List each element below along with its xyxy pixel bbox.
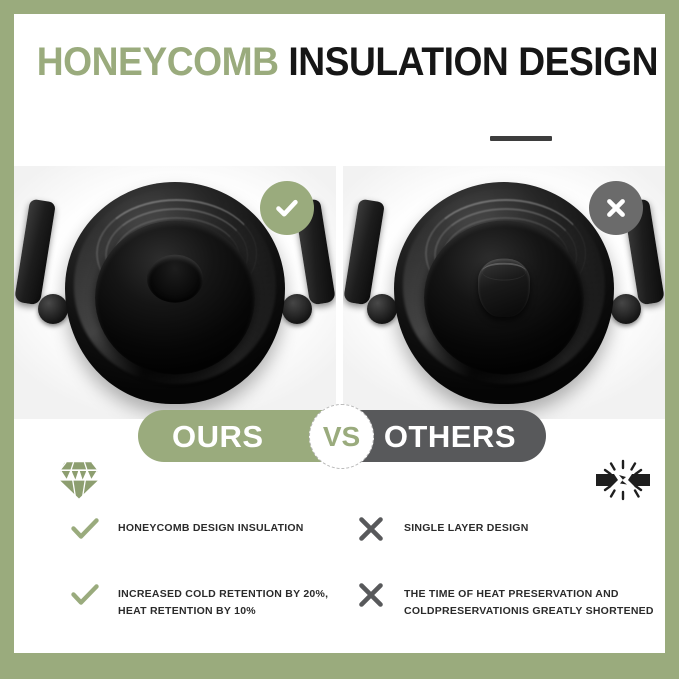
- check-icon: [68, 512, 102, 546]
- x-icon: [354, 578, 388, 612]
- feature-text: INCREASED COLD RETENTION BY 20%, HEAT RE…: [118, 578, 328, 620]
- pot-body-ours: [65, 182, 285, 404]
- feature-text: THE TIME OF HEAT PRESERVATION AND COLDPR…: [404, 578, 654, 620]
- lid-protruding-knob: [478, 259, 530, 317]
- x-circle-icon: [589, 181, 643, 235]
- pot-handle-hinge-right: [282, 294, 312, 324]
- feature-line: HEAT RETENTION BY 10%: [118, 603, 328, 620]
- infographic-page: HONEYCOMB INSULATION DESIGN: [0, 0, 679, 679]
- feature-text: HONEYCOMB DESIGN INSULATION: [118, 512, 304, 537]
- check-icon: [68, 578, 102, 612]
- feature-item: INCREASED COLD RETENTION BY 20%, HEAT RE…: [68, 578, 328, 620]
- broken-shatter-icon: [592, 458, 654, 502]
- content-canvas: HONEYCOMB INSULATION DESIGN: [14, 14, 665, 653]
- product-photo-ours: [14, 166, 336, 419]
- product-photo-others: [343, 166, 665, 419]
- feature-item: HONEYCOMB DESIGN INSULATION: [68, 512, 304, 546]
- pot-handle-left: [343, 199, 385, 306]
- versus-badge: VS: [309, 404, 374, 469]
- check-circle-icon: [260, 181, 314, 235]
- product-photo-row: [14, 166, 665, 419]
- diamond-icon: [56, 458, 102, 500]
- title-remainder: INSULATION DESIGN: [279, 40, 658, 84]
- pot-lid-others: [424, 220, 584, 374]
- feature-line: THE TIME OF HEAT PRESERVATION AND: [404, 586, 654, 603]
- ours-label: OURS: [172, 421, 264, 452]
- versus-banner: OURS OTHERS VS: [14, 410, 665, 470]
- lid-recessed-knob: [147, 255, 203, 303]
- others-label: OTHERS: [384, 421, 516, 452]
- pot-lid-ours: [95, 220, 255, 374]
- pot-handle-hinge-left: [367, 294, 397, 324]
- feature-text: SINGLE LAYER DESIGN: [404, 512, 529, 537]
- ours-pill: OURS: [138, 410, 332, 462]
- feature-item: SINGLE LAYER DESIGN: [354, 512, 529, 546]
- pot-body-others: [394, 182, 614, 404]
- title-highlight-word: HONEYCOMB: [37, 40, 279, 84]
- page-title: HONEYCOMB INSULATION DESIGN: [14, 42, 665, 82]
- feature-item: THE TIME OF HEAT PRESERVATION AND COLDPR…: [354, 578, 654, 620]
- pot-handle-hinge-right: [611, 294, 641, 324]
- pot-handle-left: [14, 199, 56, 306]
- feature-line: SINGLE LAYER DESIGN: [404, 520, 529, 537]
- others-pill: OTHERS: [346, 410, 546, 462]
- feature-line: COLDPRESERVATIONIS GREATLY SHORTENED: [404, 603, 654, 620]
- feature-line: INCREASED COLD RETENTION BY 20%,: [118, 586, 328, 603]
- feature-comparison-lists: HONEYCOMB DESIGN INSULATION INCREASED CO…: [14, 500, 665, 640]
- versus-label: VS: [323, 423, 360, 451]
- feature-line: HONEYCOMB DESIGN INSULATION: [118, 520, 304, 537]
- pot-handle-hinge-left: [38, 294, 68, 324]
- x-icon: [354, 512, 388, 546]
- title-divider-rule: [490, 136, 552, 141]
